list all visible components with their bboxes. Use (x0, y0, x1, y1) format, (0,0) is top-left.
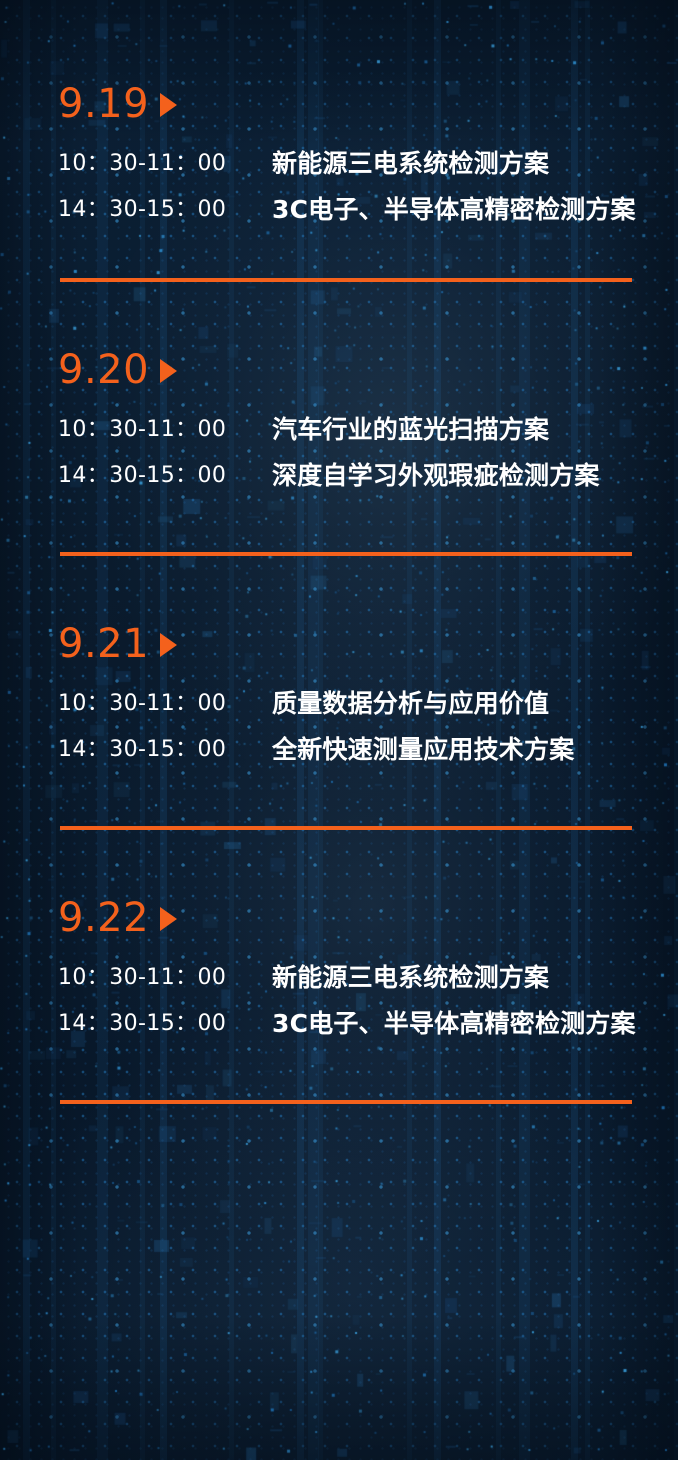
session-title: 全新快速测量应用技术方案 (272, 732, 664, 768)
session-row: 14：30-15：00 全新快速测量应用技术方案 (0, 732, 678, 768)
session-title: 3C电子、半导体高精密检测方案 (272, 192, 664, 228)
play-triangle-icon (160, 633, 177, 657)
session-title: 新能源三电系统检测方案 (272, 146, 664, 182)
session-time: 10：30-11：00 (58, 686, 272, 722)
day-block: 9.21 10：30-11：00 质量数据分析与应用价值 14：30-15：00… (0, 556, 678, 830)
day-header: 9.20 (0, 344, 678, 396)
session-time: 14：30-15：00 (58, 192, 272, 228)
day-header: 9.19 (0, 78, 678, 130)
session-row: 10：30-11：00 新能源三电系统检测方案 (0, 960, 678, 996)
session-list: 10：30-11：00 新能源三电系统检测方案 14：30-15：00 3C电子… (0, 146, 678, 228)
day-date: 9.22 (58, 898, 149, 938)
session-time: 10：30-11：00 (58, 412, 272, 448)
section-divider (60, 1100, 632, 1104)
day-block: 9.19 10：30-11：00 新能源三电系统检测方案 14：30-15：00… (0, 0, 678, 282)
play-triangle-icon (160, 907, 177, 931)
session-list: 10：30-11：00 汽车行业的蓝光扫描方案 14：30-15：00 深度自学… (0, 412, 678, 494)
schedule-list: 9.19 10：30-11：00 新能源三电系统检测方案 14：30-15：00… (0, 0, 678, 1104)
session-time: 10：30-11：00 (58, 146, 272, 182)
session-list: 10：30-11：00 新能源三电系统检测方案 14：30-15：00 3C电子… (0, 960, 678, 1042)
session-title: 质量数据分析与应用价值 (272, 686, 664, 722)
day-date: 9.21 (58, 624, 149, 664)
session-row: 10：30-11：00 质量数据分析与应用价值 (0, 686, 678, 722)
day-block: 9.22 10：30-11：00 新能源三电系统检测方案 14：30-15：00… (0, 830, 678, 1104)
schedule-poster: 9.19 10：30-11：00 新能源三电系统检测方案 14：30-15：00… (0, 0, 678, 1460)
session-time: 14：30-15：00 (58, 1006, 272, 1042)
session-row: 10：30-11：00 新能源三电系统检测方案 (0, 146, 678, 182)
play-triangle-icon (160, 359, 177, 383)
day-header: 9.22 (0, 892, 678, 944)
session-row: 14：30-15：00 深度自学习外观瑕疵检测方案 (0, 458, 678, 494)
session-row: 14：30-15：00 3C电子、半导体高精密检测方案 (0, 1006, 678, 1042)
day-header: 9.21 (0, 618, 678, 670)
session-time: 14：30-15：00 (58, 732, 272, 768)
day-date: 9.19 (58, 84, 149, 124)
session-title: 新能源三电系统检测方案 (272, 960, 664, 996)
session-row: 14：30-15：00 3C电子、半导体高精密检测方案 (0, 192, 678, 228)
day-block: 9.20 10：30-11：00 汽车行业的蓝光扫描方案 14：30-15：00… (0, 282, 678, 556)
session-row: 10：30-11：00 汽车行业的蓝光扫描方案 (0, 412, 678, 448)
play-triangle-icon (160, 93, 177, 117)
session-list: 10：30-11：00 质量数据分析与应用价值 14：30-15：00 全新快速… (0, 686, 678, 768)
session-title: 汽车行业的蓝光扫描方案 (272, 412, 664, 448)
session-time: 10：30-11：00 (58, 960, 272, 996)
day-date: 9.20 (58, 350, 149, 390)
session-time: 14：30-15：00 (58, 458, 272, 494)
session-title: 深度自学习外观瑕疵检测方案 (272, 458, 664, 494)
session-title: 3C电子、半导体高精密检测方案 (272, 1006, 664, 1042)
